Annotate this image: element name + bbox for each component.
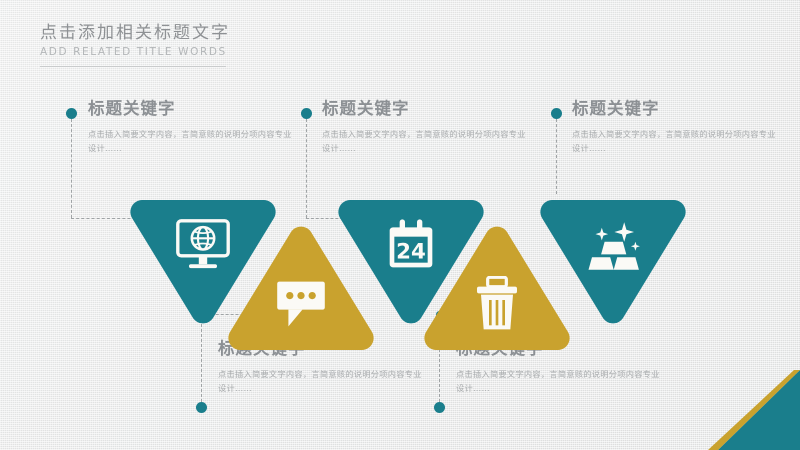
item-keyword: 标题关键字 xyxy=(322,98,534,120)
item-keyword: 标题关键字 xyxy=(572,98,784,120)
item-description: 点击插入简要文字内容，言简意赅的说明分项内容专业设计…… xyxy=(456,367,668,395)
text-block-item-1: 标题关键字 点击插入简要文字内容，言简意赅的说明分项内容专业设计…… xyxy=(88,98,300,155)
triangle-item-5[interactable] xyxy=(538,196,688,326)
connector-dot xyxy=(301,108,312,119)
connector-vline xyxy=(71,119,72,218)
connector-dot xyxy=(196,402,207,413)
connector-vline xyxy=(201,314,202,402)
item-keyword: 标题关键字 xyxy=(88,98,300,120)
connector-dot xyxy=(551,108,562,119)
slide-header: 点击添加相关标题文字 ADD RELATED TITLE WORDS xyxy=(40,22,230,59)
gold-bars-icon xyxy=(538,218,688,274)
item-description: 点击插入简要文字内容，言简意赅的说明分项内容专业设计…… xyxy=(218,367,430,395)
item-description: 点击插入简要文字内容，言简意赅的说明分项内容专业设计…… xyxy=(88,127,300,155)
corner-decoration xyxy=(680,370,800,450)
item-description: 点击插入简要文字内容，言简意赅的说明分项内容专业设计…… xyxy=(572,127,784,155)
text-block-item-3: 标题关键字 点击插入简要文字内容，言简意赅的说明分项内容专业设计…… xyxy=(322,98,534,155)
connector-dot xyxy=(66,108,77,119)
slide-canvas: 点击添加相关标题文字 ADD RELATED TITLE WORDS 标题关键字… xyxy=(0,0,800,450)
header-divider xyxy=(40,66,226,67)
page-title: 点击添加相关标题文字 xyxy=(40,22,230,44)
connector-dot xyxy=(434,402,445,413)
connector-vline xyxy=(306,119,307,218)
page-subtitle: ADD RELATED TITLE WORDS xyxy=(40,45,230,59)
connector-vline xyxy=(556,119,557,194)
text-block-item-5: 标题关键字 点击插入简要文字内容，言简意赅的说明分项内容专业设计…… xyxy=(572,98,784,155)
item-description: 点击插入简要文字内容，言简意赅的说明分项内容专业设计…… xyxy=(322,127,534,155)
